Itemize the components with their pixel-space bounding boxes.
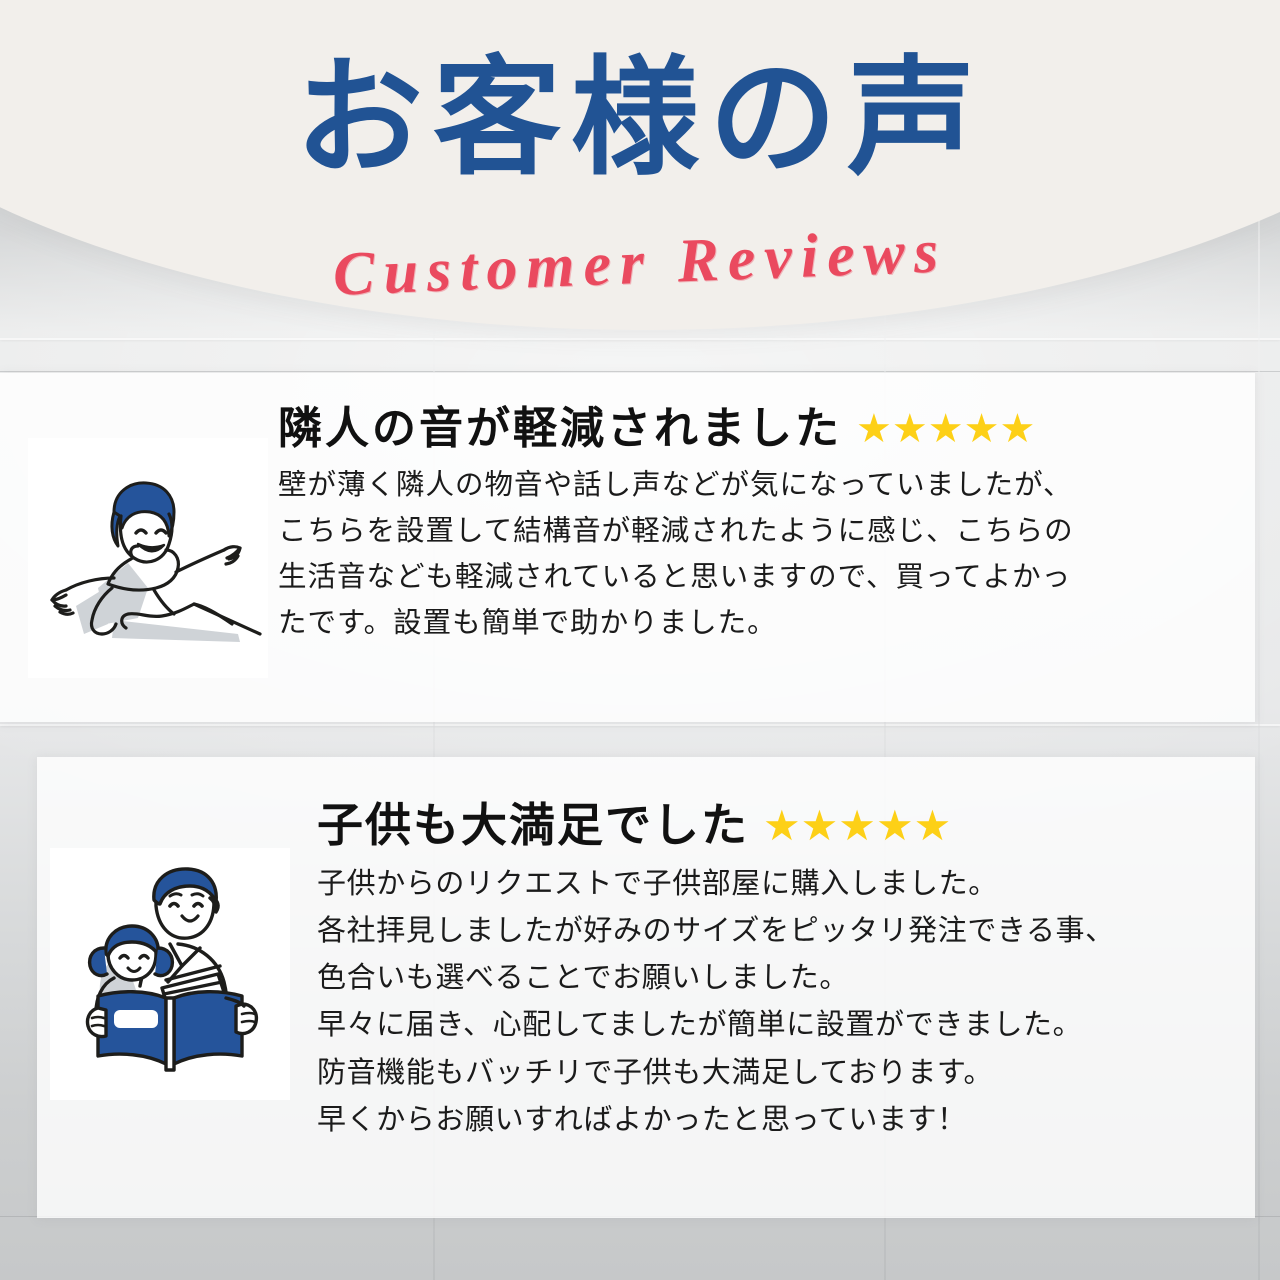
review-title: 子供も大満足でした [317, 797, 749, 855]
review-body: 隣人の音が軽減されました ★★★★★ 壁が薄く隣人の物音や話し声などが気になって… [278, 401, 1233, 647]
review-title: 隣人の音が軽減されました [278, 401, 842, 456]
review-page: お客様の声 Customer Reviews [0, 0, 1280, 1280]
woman-stretching-illustration [28, 438, 268, 678]
star-rating-icon: ★★★★★ [763, 805, 951, 847]
wall-seam-upper [0, 371, 1280, 372]
review-card[interactable]: 子供も大満足でした ★★★★★ 子供からのリクエストで子供部屋に購入しました。 … [37, 757, 1255, 1218]
parent-and-child-reading-illustration [50, 848, 290, 1100]
review-title-row: 隣人の音が軽減されました ★★★★★ [278, 401, 1233, 456]
wall-seam-middle [0, 724, 1280, 726]
review-card[interactable]: 隣人の音が軽減されました ★★★★★ 壁が薄く隣人の物音や話し声などが気になって… [0, 373, 1255, 722]
review-title-row: 子供も大満足でした ★★★★★ [317, 797, 1237, 855]
page-header: お客様の声 Customer Reviews [0, 0, 1280, 340]
review-body: 子供も大満足でした ★★★★★ 子供からのリクエストで子供部屋に購入しました。 … [317, 797, 1237, 1144]
page-subtitle: Customer Reviews [0, 203, 1280, 323]
page-title: お客様の声 [0, 52, 1280, 186]
star-rating-icon: ★★★★★ [856, 409, 1035, 449]
review-text: 子供からのリクエストで子供部屋に購入しました。 各社拝見しましたが好みのサイズを… [317, 861, 1237, 1145]
review-text: 壁が薄く隣人の物音や話し声などが気になっていましたが、 こちらを設置して結構音が… [278, 462, 1233, 647]
